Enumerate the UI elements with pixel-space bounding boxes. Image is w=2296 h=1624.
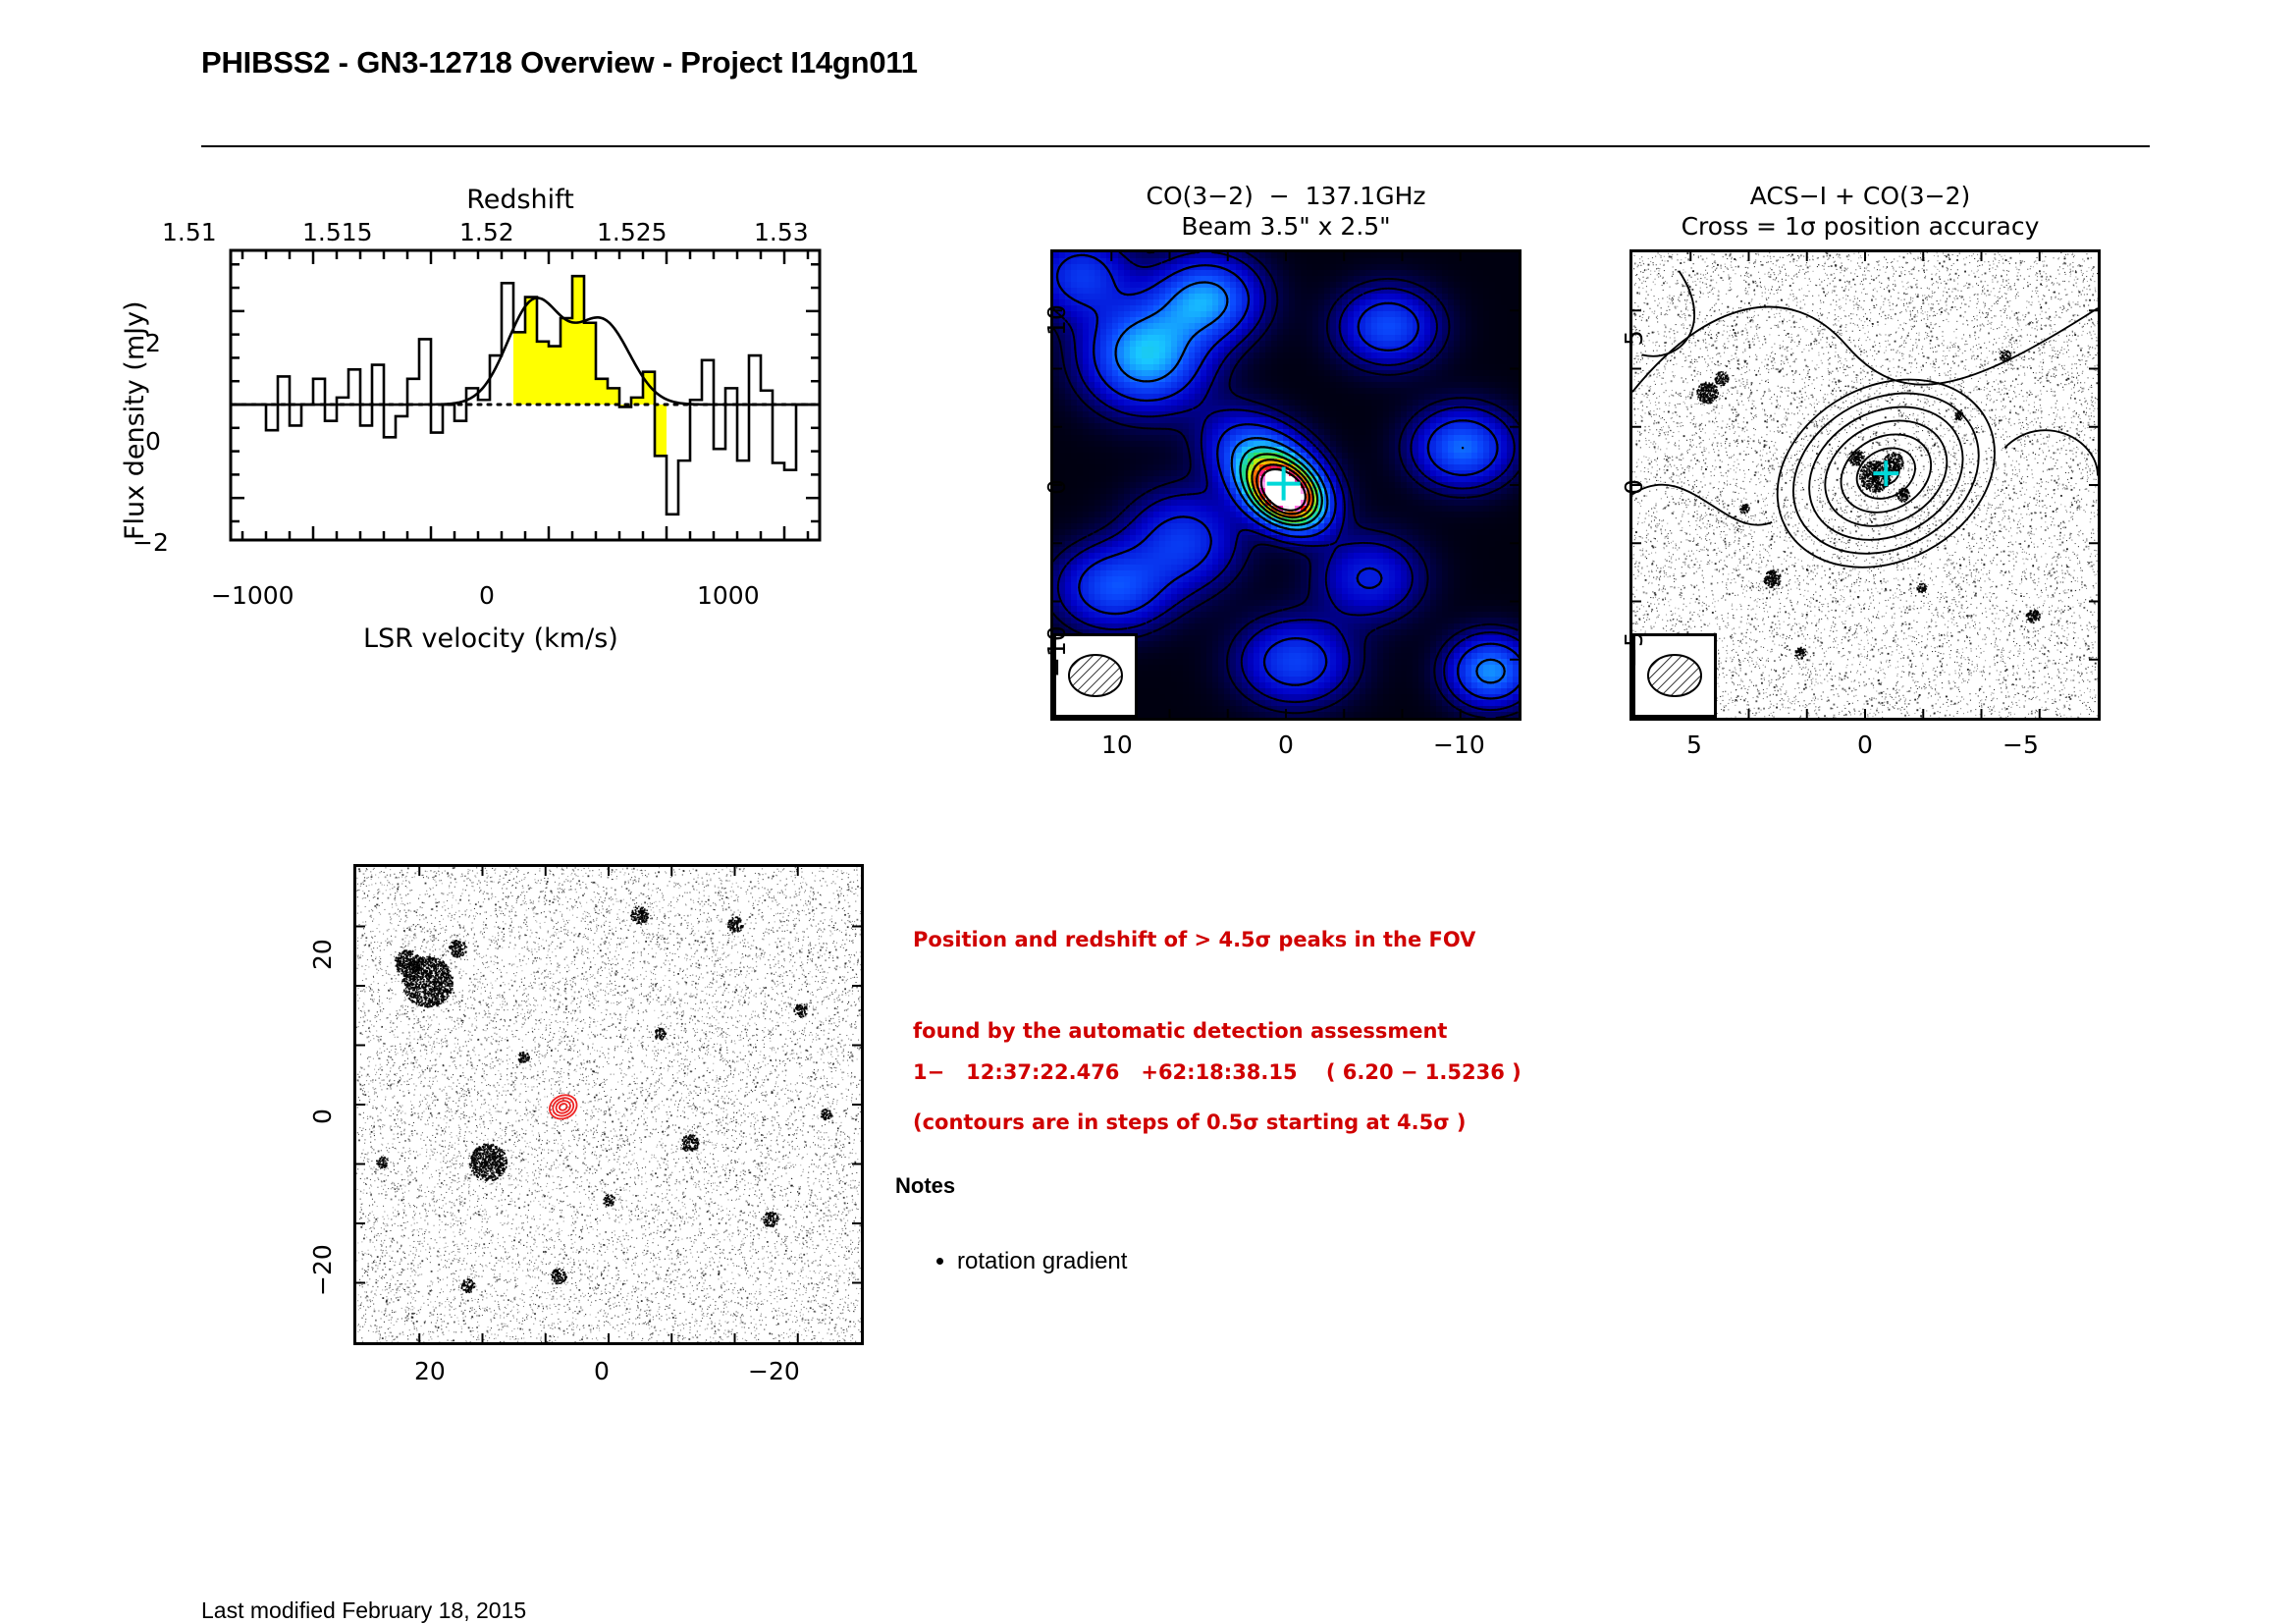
- acs-map-title-line2: Cross = 1σ position accuracy: [1600, 211, 2120, 242]
- co-map-y-tick-1: 0: [1042, 479, 1071, 495]
- header-divider: [201, 145, 2150, 147]
- acs-map-x-tick-0: 5: [1686, 731, 1702, 759]
- spectrum-x-tick-1: 0: [479, 581, 495, 610]
- notes-item: rotation gradient: [957, 1245, 1127, 1278]
- co-map-panel: CO(3−2) − 137.1GHz Beam 3.5" x 2.5" 10 0…: [1041, 189, 1531, 719]
- detection-entry-list: 1− 12:37:22.476 +62:18:38.15 ( 6.20 − 1.…: [913, 997, 1522, 1149]
- spectrum-x-tick-2: 1000: [697, 581, 760, 610]
- spectrum-chart: [177, 245, 825, 569]
- co-map-x-tick-2: −10: [1433, 731, 1485, 759]
- notes-heading: Notes: [895, 1173, 955, 1199]
- wide-y-tick-1: 0: [308, 1109, 337, 1124]
- wide-field-image: [353, 864, 864, 1345]
- co-map-image: [1050, 249, 1522, 721]
- co-map-title-line2: Beam 3.5" x 2.5": [1041, 211, 1531, 242]
- wide-x-tick-0: 20: [414, 1357, 446, 1385]
- page-title: PHIBSS2 - GN3-12718 Overview - Project I…: [201, 45, 918, 81]
- co-map-x-tick-1: 0: [1278, 731, 1294, 759]
- spectrum-y-axis-title: Flux density (mJy): [120, 300, 150, 540]
- acs-map-y-tick-2: −5: [1620, 631, 1648, 668]
- wide-x-tick-1: 0: [594, 1357, 610, 1385]
- detection-entry-1: 1− 12:37:22.476 +62:18:38.15 ( 6.20 − 1.…: [913, 1057, 1522, 1088]
- overview-page: PHIBSS2 - GN3-12718 Overview - Project I…: [0, 0, 2296, 1623]
- detection-note-line-1: Position and redshift of > 4.5σ peaks in…: [913, 925, 1475, 955]
- spectrum-panel: Redshift 1.51 1.515 1.52 1.525 1.53 2 0 …: [177, 245, 864, 658]
- acs-map-x-tick-2: −5: [2002, 731, 2039, 759]
- spectrum-top-tick-2: 1.52: [459, 218, 514, 246]
- co-map-x-tick-0: 10: [1101, 731, 1133, 759]
- acs-map-image: [1629, 249, 2101, 721]
- wide-field-panel: 20 0 −20 20 0 −20: [294, 854, 883, 1384]
- wide-y-tick-2: −20: [308, 1244, 337, 1296]
- wide-x-tick-2: −20: [748, 1357, 800, 1385]
- co-map-title-line1: CO(3−2) − 137.1GHz: [1041, 181, 1531, 211]
- acs-map-y-tick-1: 0: [1620, 479, 1648, 495]
- spectrum-top-tick-0: 1.51: [162, 218, 217, 246]
- wide-y-tick-0: 20: [308, 939, 337, 970]
- acs-map-y-tick-0: 5: [1620, 330, 1648, 346]
- spectrum-x-tick-0: −1000: [211, 581, 294, 610]
- acs-map-title-line1: ACS−I + CO(3−2): [1600, 181, 2120, 211]
- spectrum-top-tick-1: 1.515: [302, 218, 373, 246]
- notes-list: rotation gradient: [928, 1245, 1127, 1278]
- co-map-y-tick-2: −10: [1042, 625, 1071, 677]
- spectrum-redshift-axis-title: Redshift: [177, 185, 864, 215]
- last-modified-footer: Last modified February 18, 2015: [201, 1597, 526, 1624]
- co-map-y-tick-0: 10: [1042, 304, 1071, 336]
- acs-map-panel: ACS−I + CO(3−2) Cross = 1σ position accu…: [1600, 189, 2120, 719]
- spectrum-top-tick-3: 1.525: [597, 218, 667, 246]
- acs-map-x-tick-1: 0: [1857, 731, 1873, 759]
- spectrum-top-tick-4: 1.53: [754, 218, 809, 246]
- spectrum-x-axis-title: LSR velocity (km/s): [363, 623, 618, 654]
